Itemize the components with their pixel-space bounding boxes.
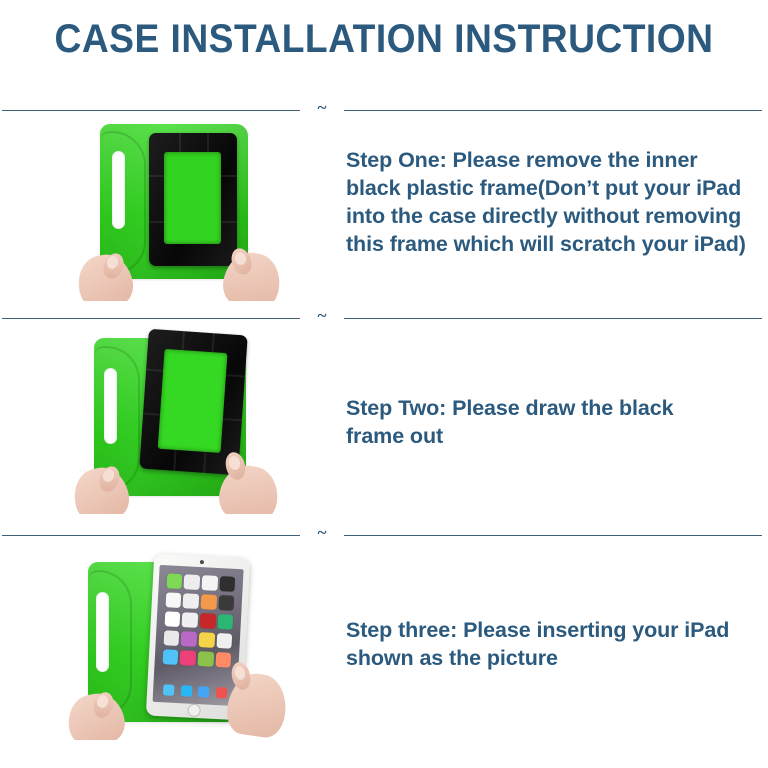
- divider-line-right: [344, 110, 762, 111]
- ipad-app-icon: [201, 594, 217, 610]
- ipad-camera-icon: [200, 560, 204, 564]
- ipad-dock-icon: [163, 684, 175, 696]
- ipad-app-icon: [180, 650, 196, 666]
- step-2-photo: [56, 326, 296, 514]
- ipad-app-icon: [218, 614, 234, 630]
- ipad-app-icon: [183, 593, 199, 609]
- divider-line-right: [344, 318, 762, 319]
- step-1-photo: [56, 115, 296, 301]
- ipad-screen: [153, 565, 244, 706]
- ipad-app-icon: [199, 632, 215, 648]
- ipad-dock-icon: [180, 685, 192, 697]
- ipad-app-icon: [219, 595, 235, 611]
- frame-window-opening: [164, 152, 221, 244]
- ipad-app-icon: [184, 574, 200, 590]
- case-handle-slot: [104, 368, 117, 444]
- black-plastic-frame: [149, 133, 237, 266]
- ipad-app-icon: [200, 613, 216, 629]
- step-row-2: Step Two: Please draw the black frame ou…: [0, 322, 768, 518]
- ipad-app-icon: [165, 592, 181, 608]
- case-handle-slot: [96, 592, 109, 672]
- ipad-app-icon: [163, 630, 179, 646]
- ipad-app-grid: [155, 573, 243, 653]
- step-3-photo: [56, 544, 296, 740]
- ipad-app-icon: [164, 611, 180, 627]
- ipad-app-icon: [166, 574, 182, 590]
- divider-line-left: [2, 535, 300, 536]
- step-3-text: Step three: Please inserting your iPad s…: [346, 616, 736, 672]
- ipad-app-icon: [202, 575, 218, 591]
- ipad-app-icon: [220, 576, 236, 592]
- ipad-app-icon: [217, 633, 233, 649]
- ipad-app-icon: [198, 651, 214, 667]
- ipad-app-icon: [216, 652, 232, 668]
- divider-line-left: [2, 318, 300, 319]
- case-handle-slot: [112, 151, 125, 229]
- ipad-dock-icon: [198, 686, 210, 698]
- divider-ornament-icon: ~: [300, 307, 344, 324]
- ipad-dock-icon: [216, 687, 228, 699]
- divider-ornament-icon: ~: [300, 524, 344, 541]
- ipad-app-icon: [181, 631, 197, 647]
- ipad-home-button: [187, 704, 201, 718]
- frame-window-opening: [158, 349, 228, 453]
- page-title-container: CASE INSTALLATION INSTRUCTION: [0, 18, 768, 60]
- ipad-app-icon: [182, 612, 198, 628]
- page-title: CASE INSTALLATION INSTRUCTION: [27, 18, 741, 60]
- instruction-sheet: CASE INSTALLATION INSTRUCTION ~: [0, 0, 768, 768]
- step-1-text: Step One: Please remove the inner black …: [346, 146, 746, 258]
- ipad-app-icon: [162, 649, 178, 665]
- divider-line-left: [2, 110, 300, 111]
- ipad-dock: [160, 684, 231, 699]
- step-row-3: Step three: Please inserting your iPad s…: [0, 540, 768, 740]
- divider-line-right: [344, 535, 762, 536]
- step-row-1: Step One: Please remove the inner black …: [0, 113, 768, 305]
- step-2-text: Step Two: Please draw the black frame ou…: [346, 394, 736, 450]
